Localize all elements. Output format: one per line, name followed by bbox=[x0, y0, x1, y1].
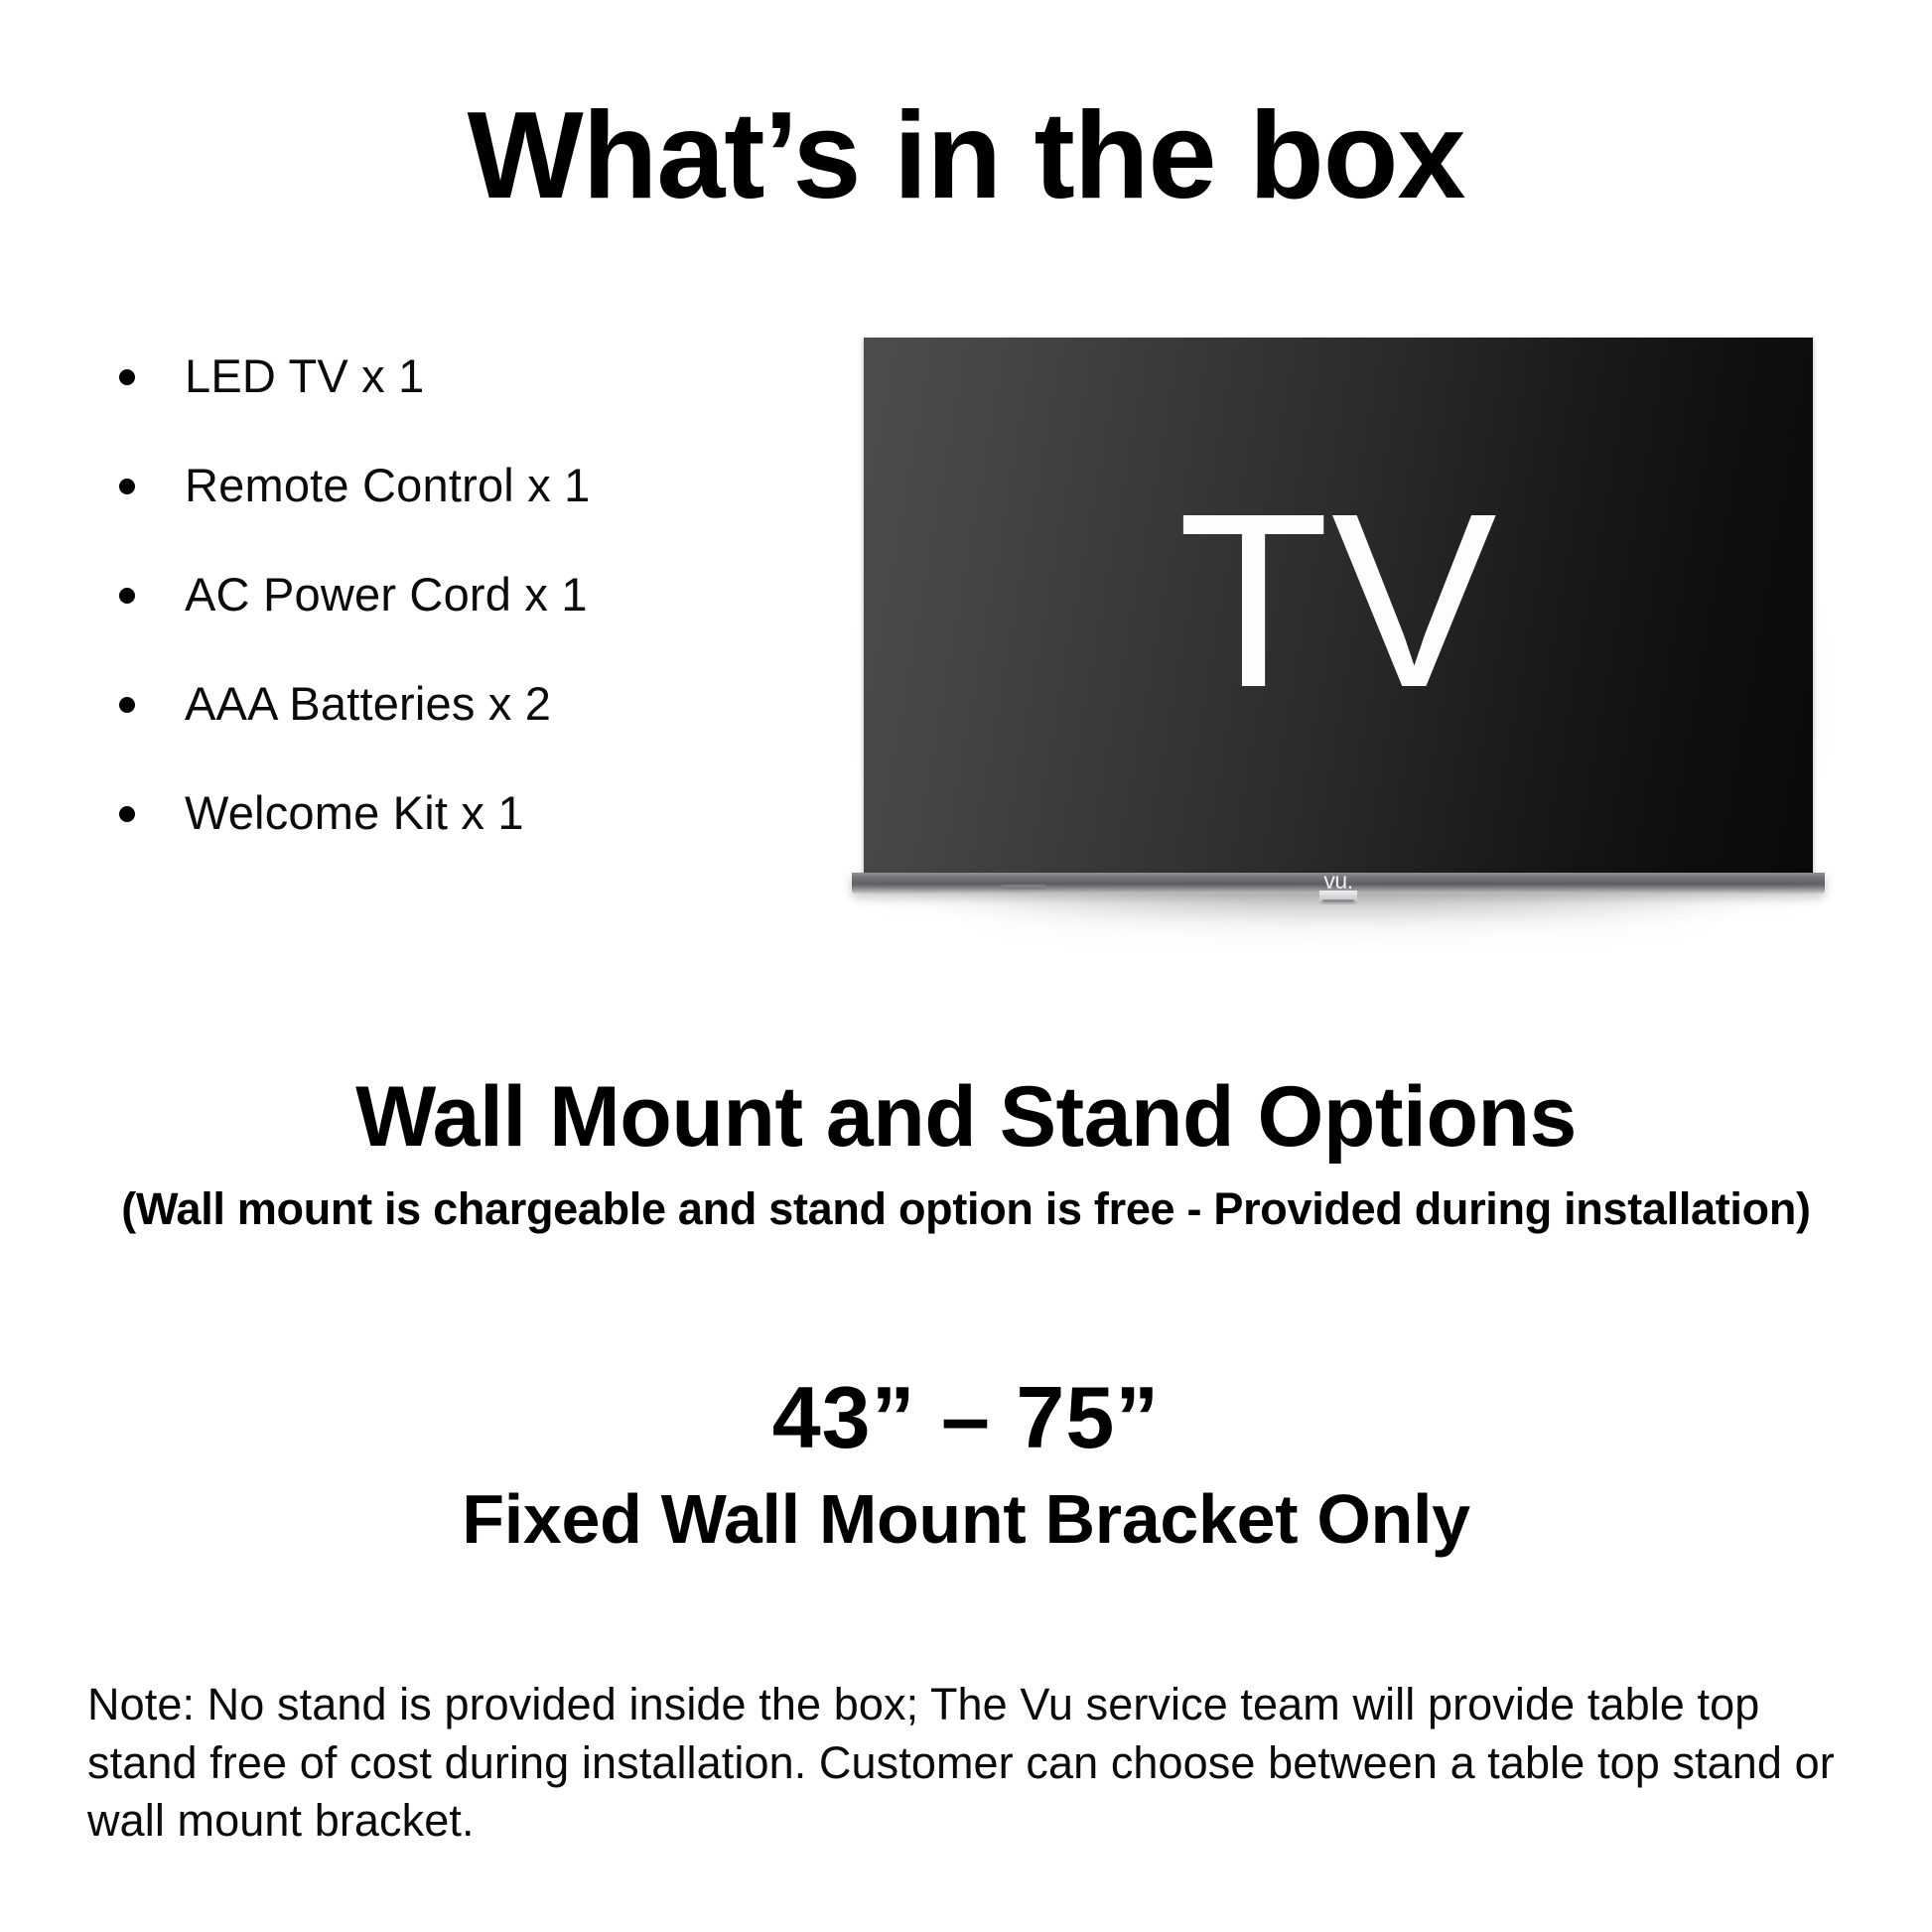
list-item: LED TV x 1 bbox=[119, 349, 755, 403]
tv-illustration: TV vu. bbox=[852, 328, 1825, 923]
tv-bottom-bezel: vu. bbox=[852, 873, 1825, 894]
tv-screen: TV bbox=[864, 338, 1813, 876]
bullet-icon bbox=[119, 588, 135, 604]
box-contents-list: LED TV x 1 Remote Control x 1 AC Power C… bbox=[119, 349, 755, 840]
list-item: AAA Batteries x 2 bbox=[119, 677, 755, 731]
wall-mount-subnote: (Wall mount is chargeable and stand opti… bbox=[0, 1183, 1932, 1235]
vu-brand-logo: vu. bbox=[852, 870, 1825, 893]
whats-in-the-box-page: What’s in the box LED TV x 1 Remote Cont… bbox=[0, 0, 1932, 1932]
list-item: Remote Control x 1 bbox=[119, 459, 755, 512]
wall-mount-heading: Wall Mount and Stand Options bbox=[0, 1070, 1932, 1165]
page-title: What’s in the box bbox=[0, 91, 1932, 220]
box-item-label: AAA Batteries x 2 bbox=[185, 677, 551, 731]
tv-floor-shadow bbox=[862, 894, 1815, 919]
bullet-icon bbox=[119, 369, 135, 385]
bullet-icon bbox=[119, 479, 135, 494]
tv-screen-label: TV bbox=[864, 338, 1813, 876]
footer-note: Note: No stand is provided inside the bo… bbox=[87, 1676, 1864, 1851]
box-item-label: LED TV x 1 bbox=[185, 349, 424, 403]
box-item-label: Welcome Kit x 1 bbox=[185, 786, 524, 840]
size-range-label: 43” – 75” bbox=[0, 1370, 1932, 1466]
list-item: Welcome Kit x 1 bbox=[119, 786, 755, 840]
box-item-label: Remote Control x 1 bbox=[185, 459, 591, 512]
bullet-icon bbox=[119, 806, 135, 822]
bullet-icon bbox=[119, 697, 135, 713]
box-item-label: AC Power Cord x 1 bbox=[185, 568, 588, 621]
list-item: AC Power Cord x 1 bbox=[119, 568, 755, 621]
bracket-type-label: Fixed Wall Mount Bracket Only bbox=[0, 1479, 1932, 1560]
